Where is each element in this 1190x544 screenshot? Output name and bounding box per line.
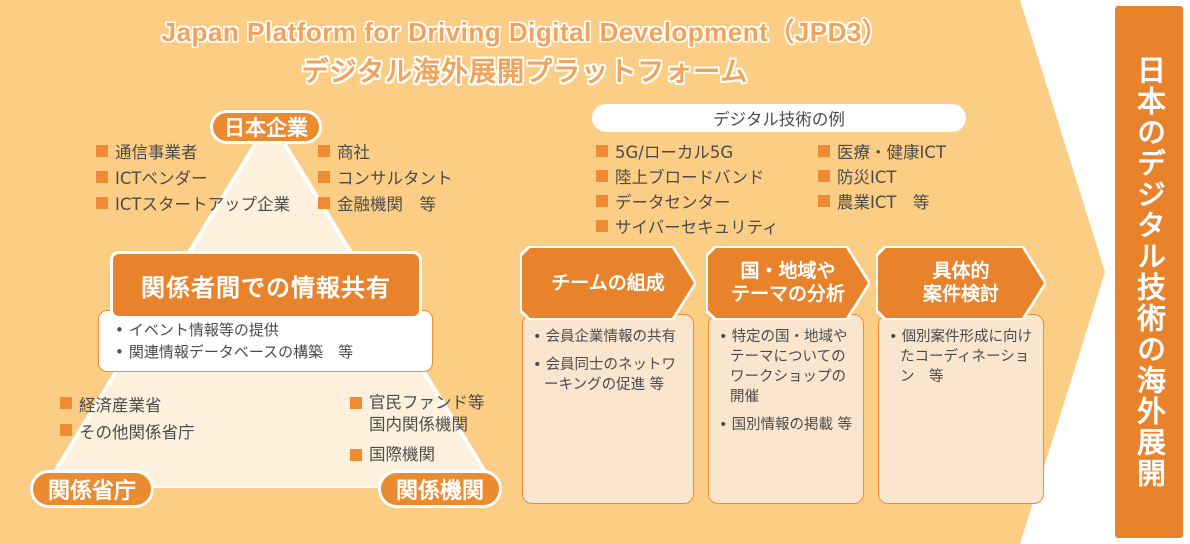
list-item: 医療・健康ICT bbox=[818, 140, 946, 165]
square-bullet-icon bbox=[818, 170, 830, 182]
companies-right-list: 商社 コンサルタント 金融機関 等 bbox=[318, 140, 453, 218]
list-item-continuation: 国内関係機関 bbox=[350, 414, 485, 436]
list-item: ICTベンダー bbox=[96, 166, 290, 192]
list-item: 通信事業者 bbox=[96, 140, 290, 166]
process-card-header-line1: 具体的 bbox=[932, 260, 989, 283]
list-item-label: サイバーセキュリティ bbox=[615, 215, 779, 240]
square-bullet-icon bbox=[350, 449, 362, 461]
square-bullet-icon bbox=[350, 397, 362, 409]
digital-tech-right-list: 医療・健康ICT 防災ICT 農業ICT 等 bbox=[818, 140, 946, 215]
pill-agencies: 関係機関 bbox=[378, 470, 502, 508]
companies-left-list: 通信事業者 ICTベンダー ICTスタートアップ企業 bbox=[96, 140, 290, 218]
side-banner: 日本のデジタル技術の海外展開 bbox=[1113, 4, 1185, 540]
square-bullet-icon bbox=[818, 195, 830, 207]
list-item: 特定の国・地域やテーマについてのワークショップの開催 bbox=[719, 327, 853, 407]
list-item-label: 官民ファンド等 bbox=[369, 392, 485, 414]
process-card-header-line2: テーマの分析 bbox=[731, 283, 845, 306]
list-item-label: 陸上ブロードバンド bbox=[615, 165, 764, 190]
infographic-root: Japan Platform for Driving Digital Devel… bbox=[0, 0, 1190, 544]
square-bullet-icon bbox=[818, 145, 830, 157]
square-bullet-icon bbox=[596, 195, 608, 207]
list-item: 5G/ローカル5G bbox=[596, 140, 779, 165]
list-item: ICTスタートアップ企業 bbox=[96, 192, 290, 218]
list-item: 陸上ブロードバンド bbox=[596, 165, 779, 190]
square-bullet-icon bbox=[596, 170, 608, 182]
list-item-label: コンサルタント bbox=[337, 166, 453, 192]
list-item-label: 通信事業者 bbox=[115, 140, 198, 166]
list-item: 会員企業情報の共有 bbox=[533, 327, 683, 347]
process-card-header: 具体的 案件検討 bbox=[878, 248, 1044, 318]
list-item: 農業ICT 等 bbox=[818, 190, 946, 215]
list-item: 官民ファンド等 bbox=[350, 392, 485, 414]
square-bullet-icon bbox=[596, 145, 608, 157]
side-banner-label: 日本のデジタル技術の海外展開 bbox=[1135, 55, 1164, 489]
agencies-list: 官民ファンド等 国内関係機関 国際機関 bbox=[350, 392, 485, 466]
square-bullet-icon bbox=[318, 171, 330, 183]
information-sharing-card: イベント情報等の提供 関連情報データベースの構築 等 bbox=[98, 310, 433, 372]
list-item-label: その他関係省庁 bbox=[79, 419, 195, 446]
list-item-label: 農業ICT 等 bbox=[837, 190, 929, 215]
list-item-label: 医療・健康ICT bbox=[837, 140, 946, 165]
page-title-japanese: デジタル海外展開プラットフォーム bbox=[0, 50, 1050, 89]
square-bullet-icon bbox=[318, 145, 330, 157]
pill-ministries: 関係省庁 bbox=[30, 470, 154, 508]
list-item: データセンター bbox=[596, 190, 779, 215]
pill-japanese-companies: 日本企業 bbox=[210, 110, 322, 144]
list-item-label: 経済産業省 bbox=[79, 392, 162, 419]
page-title-english: Japan Platform for Driving Digital Devel… bbox=[0, 12, 1050, 49]
process-card-header-wrap: 国・地域や テーマの分析 bbox=[708, 248, 868, 318]
ministries-list: 経済産業省 その他関係省庁 bbox=[60, 392, 195, 446]
list-item: コンサルタント bbox=[318, 166, 453, 192]
square-bullet-icon bbox=[96, 171, 108, 183]
square-bullet-icon bbox=[60, 424, 72, 436]
square-bullet-icon bbox=[318, 197, 330, 209]
list-item: 経済産業省 bbox=[60, 392, 195, 419]
list-item-label: データセンター bbox=[615, 190, 731, 215]
list-item: 会員同士のネットワーキングの促進 等 bbox=[533, 355, 683, 395]
process-card-header-wrap: 具体的 案件検討 bbox=[878, 248, 1044, 318]
information-sharing-header: 関係者間での情報共有 bbox=[110, 251, 422, 319]
process-card-body: 会員企業情報の共有 会員同士のネットワーキングの促進 等 bbox=[522, 314, 694, 504]
square-bullet-icon bbox=[596, 220, 608, 232]
process-card-header: チームの組成 bbox=[522, 248, 694, 318]
list-item-label: 商社 bbox=[337, 140, 370, 166]
process-card-header-wrap: チームの組成 bbox=[522, 248, 694, 318]
process-card-body: 個別案件形成に向けたコーディネーション 等 bbox=[878, 314, 1044, 504]
list-item: 商社 bbox=[318, 140, 453, 166]
digital-tech-left-list: 5G/ローカル5G 陸上ブロードバンド データセンター サイバーセキュリティ bbox=[596, 140, 779, 240]
square-bullet-icon bbox=[96, 145, 108, 157]
list-item-label: 国際機関 bbox=[369, 444, 435, 466]
process-card-header: 国・地域や テーマの分析 bbox=[708, 248, 868, 318]
process-card-body: 特定の国・地域やテーマについてのワークショップの開催 国別情報の掲載 等 bbox=[708, 314, 864, 504]
square-bullet-icon bbox=[60, 397, 72, 409]
list-item-label: ICTベンダー bbox=[115, 166, 207, 192]
square-bullet-icon bbox=[96, 197, 108, 209]
process-card-header-line2: 案件検討 bbox=[923, 283, 999, 306]
list-item-label: 防災ICT bbox=[837, 165, 896, 190]
list-item: その他関係省庁 bbox=[60, 419, 195, 446]
list-item: 国際機関 bbox=[350, 444, 485, 466]
list-item-label: ICTスタートアップ企業 bbox=[115, 192, 290, 218]
digital-tech-header: デジタル技術の例 bbox=[592, 104, 966, 132]
list-item: 関連情報データベースの構築 等 bbox=[115, 341, 432, 363]
list-item: 金融機関 等 bbox=[318, 192, 453, 218]
list-item: サイバーセキュリティ bbox=[596, 215, 779, 240]
process-card-header-line1: 国・地域や bbox=[740, 260, 835, 283]
list-item-label: 金融機関 等 bbox=[337, 192, 436, 218]
list-item-label: 5G/ローカル5G bbox=[615, 140, 733, 165]
list-item: 個別案件形成に向けたコーディネーション 等 bbox=[889, 327, 1033, 387]
list-item: 国別情報の掲載 等 bbox=[719, 415, 853, 435]
list-item: 防災ICT bbox=[818, 165, 946, 190]
list-item: イベント情報等の提供 bbox=[115, 319, 432, 341]
